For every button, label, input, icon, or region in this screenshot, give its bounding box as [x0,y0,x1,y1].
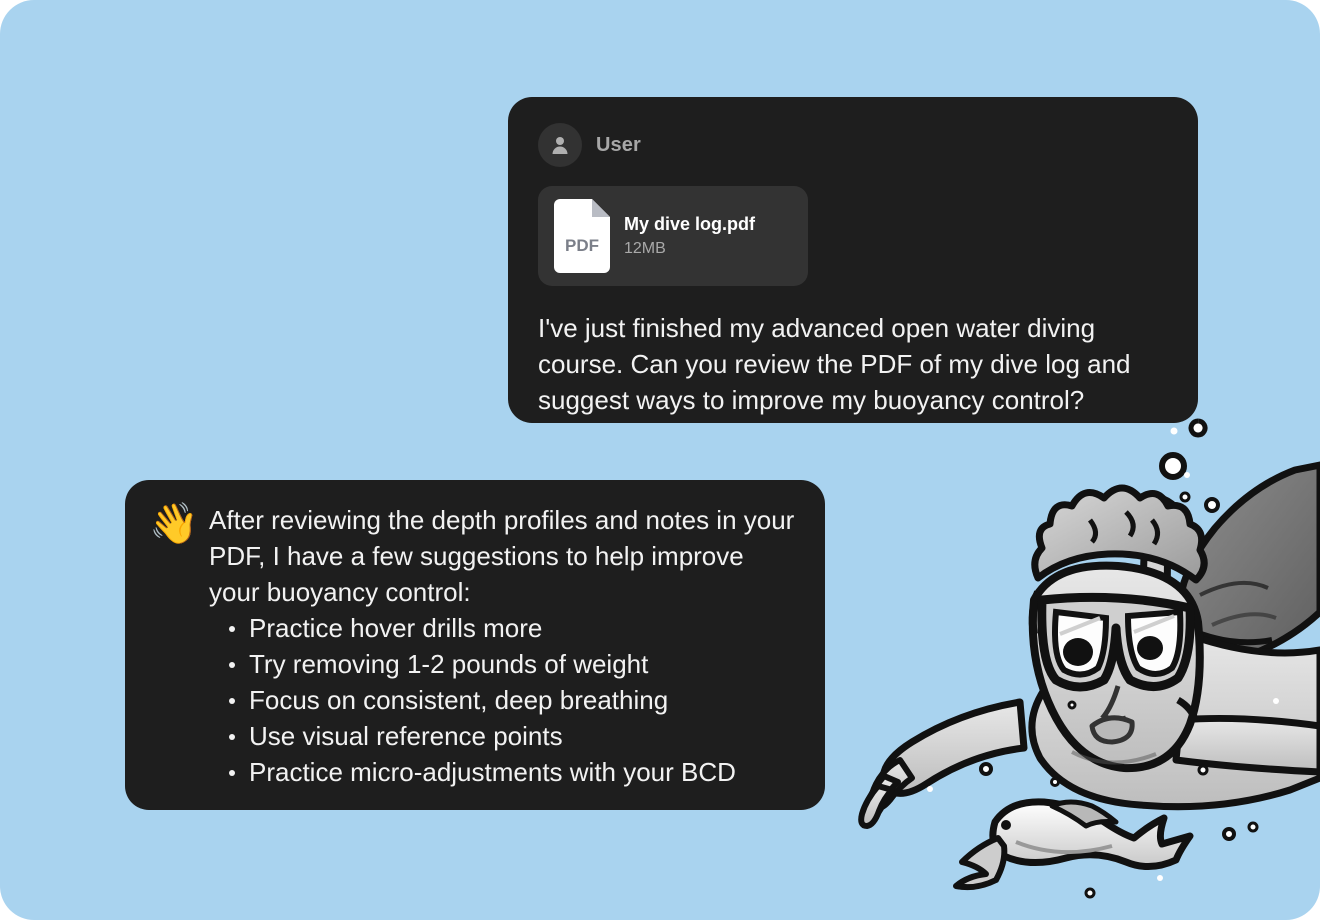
user-name-label: User [596,134,641,157]
screen-canvas: User PDF My dive log.pdf 12MB I've just … [0,0,1320,920]
list-item: Practice micro-adjustments with your BCD [249,754,799,790]
pdf-file-icon: PDF [554,199,610,273]
snorkel-tube [1144,498,1181,717]
assistant-message-bubble: 👋 After reviewing the depth profiles and… [125,480,825,810]
diver-left-arm [861,702,1024,826]
pdf-icon-label: PDF [565,236,599,255]
list-item: Try removing 1-2 pounds of weight [249,646,799,682]
fish [956,802,1190,887]
person-avatar-icon [538,123,582,167]
pdf-file-name: My dive log.pdf [624,214,755,235]
pdf-attachment-card[interactable]: PDF My dive log.pdf 12MB [538,186,808,286]
pdf-file-meta: My dive log.pdf 12MB [624,214,755,258]
wetsuit-sleeve [1179,465,1320,655]
waving-hand-icon: 👋 [149,502,199,790]
user-message-header: User [538,123,1168,167]
diver-head [1033,488,1205,768]
user-message-text: I've just finished my advanced open wate… [538,310,1168,418]
pdf-file-size: 12MB [624,240,755,258]
diver-right-arm [1176,718,1320,772]
list-item: Practice hover drills more [249,610,799,646]
list-item: Focus on consistent, deep breathing [249,682,799,718]
list-item: Use visual reference points [249,718,799,754]
user-message-bubble: User PDF My dive log.pdf 12MB I've just … [508,97,1198,423]
air-bubbles [927,392,1279,897]
diver-hand [861,760,912,826]
assistant-intro-text: After reviewing the depth profiles and n… [209,502,799,610]
diver-torso [1032,629,1320,807]
assistant-suggestion-list: Practice hover drills more Try removing … [209,610,799,790]
